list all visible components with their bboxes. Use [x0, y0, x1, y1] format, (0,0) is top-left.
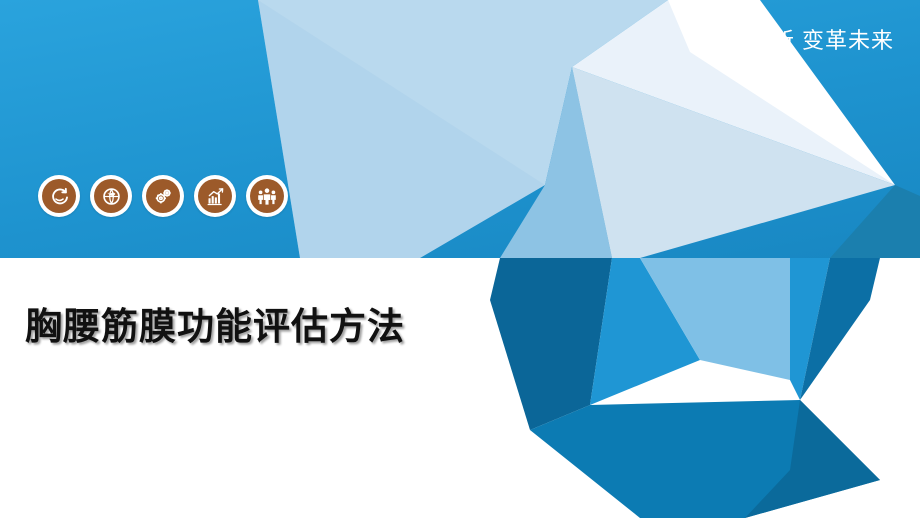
people-group-icon	[250, 179, 284, 213]
polygon-artwork	[0, 0, 920, 518]
globe-icon	[94, 179, 128, 213]
gears-icon	[146, 179, 180, 213]
icon-badge-refresh[interactable]	[38, 175, 80, 217]
icon-badge-gears[interactable]	[142, 175, 184, 217]
icon-row	[38, 175, 288, 217]
bar-chart-growth-icon	[198, 179, 232, 213]
slide-canvas: 数智创新 变革未来	[0, 0, 920, 518]
page-title: 胸腰筋膜功能评估方法	[25, 296, 405, 350]
icon-badge-bar-chart[interactable]	[194, 175, 236, 217]
header-tagline: 数智创新 变革未来	[703, 28, 894, 54]
refresh-cycle-icon	[42, 179, 76, 213]
icon-badge-people[interactable]	[246, 175, 288, 217]
icon-badge-globe[interactable]	[90, 175, 132, 217]
